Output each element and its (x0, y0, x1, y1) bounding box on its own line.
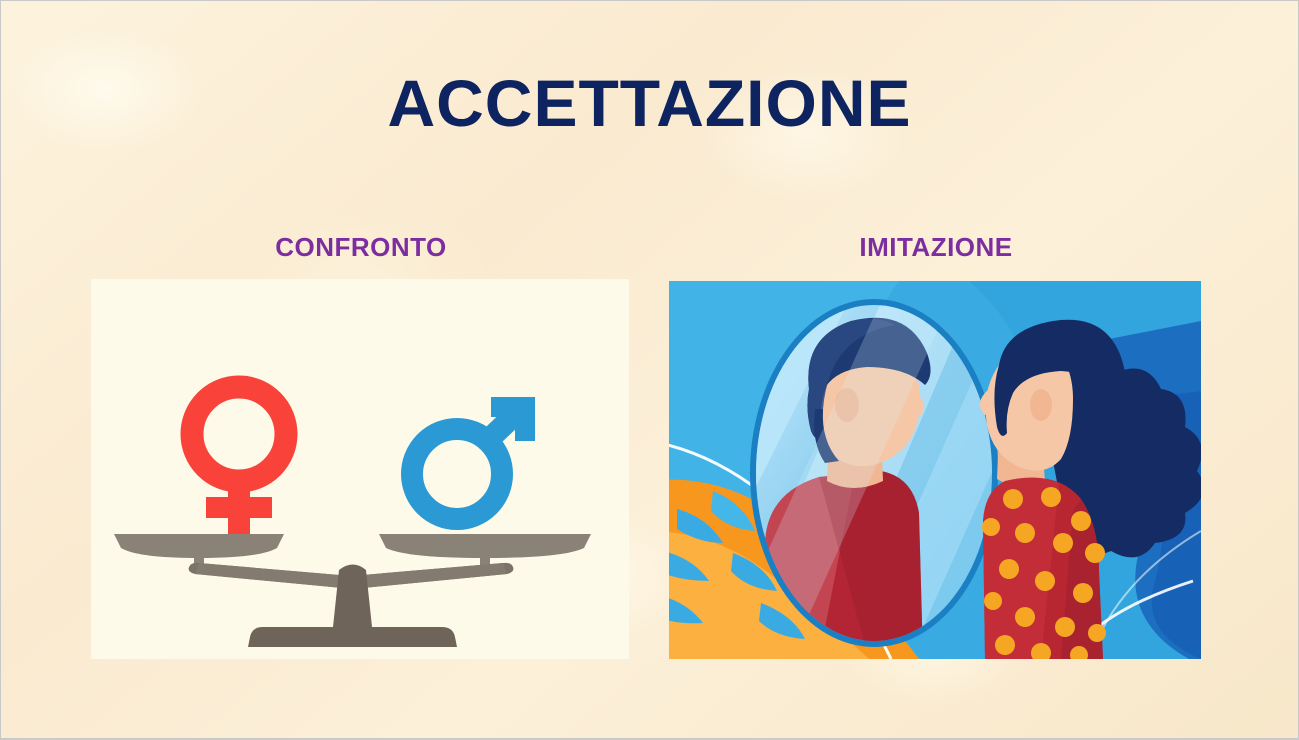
column-heading-confronto: CONFRONTO (181, 232, 541, 263)
illustration-mirror-reflection (669, 281, 1201, 659)
balance-scale-graphic (91, 279, 629, 659)
bottom-divider (1, 738, 1298, 739)
slide-canvas: ACCETTAZIONE CONFRONTO IMITAZIONE (0, 0, 1299, 740)
woman-ear (1030, 389, 1052, 421)
mirror-reflection-graphic (669, 281, 1201, 659)
illustration-balance-scale (91, 279, 629, 659)
column-heading-imitazione: IMITAZIONE (756, 232, 1116, 263)
page-title: ACCETTAZIONE (1, 69, 1298, 138)
